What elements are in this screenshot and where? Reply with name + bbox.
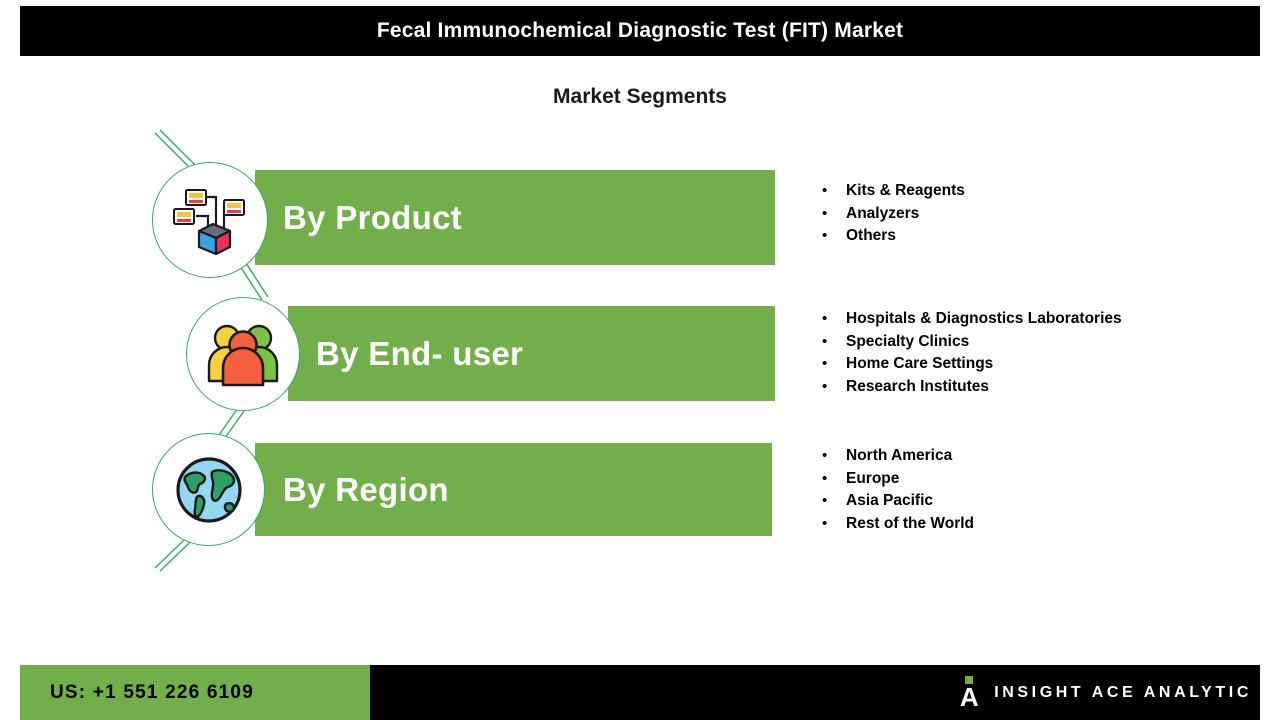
bullet-icon: • bbox=[822, 225, 846, 248]
segments-diagram: By Product bbox=[0, 120, 1280, 590]
list-item-label: Analyzers bbox=[846, 203, 919, 226]
bullet-list-by-region: • North America • Europe • Asia Pacific … bbox=[822, 445, 974, 535]
list-item: • Rest of the World bbox=[822, 513, 974, 536]
list-item: • Specialty Clinics bbox=[822, 331, 1122, 354]
segment-circle-by-region[interactable] bbox=[152, 433, 265, 546]
segment-bar-by-region[interactable]: By Region bbox=[255, 443, 772, 536]
footer-phone-number: US: +1 551 226 6109 bbox=[20, 682, 254, 704]
bullet-icon: • bbox=[822, 308, 846, 331]
people-group-icon bbox=[203, 321, 283, 387]
footer-phone-block[interactable]: US: +1 551 226 6109 bbox=[20, 665, 370, 720]
list-item: • Hospitals & Diagnostics Laboratories bbox=[822, 308, 1122, 331]
segment-label-by-product: By Product bbox=[283, 199, 462, 237]
footer-bar: US: +1 551 226 6109 A INSIGHT ACE ANALYT… bbox=[0, 665, 1280, 720]
bullet-icon: • bbox=[822, 513, 846, 536]
page-title: Fecal Immunochemical Diagnostic Test (FI… bbox=[377, 19, 903, 43]
list-item-label: Home Care Settings bbox=[846, 353, 993, 376]
segment-circle-by-end-user[interactable] bbox=[186, 297, 300, 411]
list-item: • Research Institutes bbox=[822, 376, 1122, 399]
segment-bar-by-end-user[interactable]: By End- user bbox=[288, 306, 775, 401]
title-bar: Fecal Immunochemical Diagnostic Test (FI… bbox=[20, 6, 1260, 56]
bullet-icon: • bbox=[822, 445, 846, 468]
bullet-list-by-end-user: • Hospitals & Diagnostics Laboratories •… bbox=[822, 308, 1122, 398]
infographic-root: Fecal Immunochemical Diagnostic Test (FI… bbox=[0, 0, 1280, 720]
bullet-icon: • bbox=[822, 331, 846, 354]
list-item: • Others bbox=[822, 225, 965, 248]
bullet-icon: • bbox=[822, 353, 846, 376]
list-item-label: Specialty Clinics bbox=[846, 331, 969, 354]
brand-letter: A bbox=[956, 685, 982, 710]
key-players-strip: Key Players: SENTINEL D I A G N O S T I … bbox=[0, 600, 1280, 662]
globe-icon bbox=[174, 455, 244, 525]
segment-label-by-region: By Region bbox=[283, 471, 449, 509]
list-item-label: Rest of the World bbox=[846, 513, 974, 536]
bullet-icon: • bbox=[822, 180, 846, 203]
bullet-list-by-product: • Kits & Reagents • Analyzers • Others bbox=[822, 180, 965, 248]
segment-label-by-end-user: By End- user bbox=[316, 335, 523, 373]
list-item-label: Kits & Reagents bbox=[846, 180, 965, 203]
footer-brand-name: INSIGHT ACE ANALYTIC bbox=[994, 684, 1252, 702]
segment-bar-by-product[interactable]: By Product bbox=[255, 170, 775, 265]
list-item: • Home Care Settings bbox=[822, 353, 1122, 376]
list-item-label: Asia Pacific bbox=[846, 490, 933, 513]
bullet-icon: • bbox=[822, 468, 846, 491]
insight-ace-logo-icon: A bbox=[956, 676, 982, 710]
list-item: • North America bbox=[822, 445, 974, 468]
segment-circle-by-product[interactable] bbox=[152, 162, 268, 278]
bullet-icon: • bbox=[822, 376, 846, 399]
list-item-label: North America bbox=[846, 445, 952, 468]
list-item-label: Others bbox=[846, 225, 896, 248]
section-heading: Market Segments bbox=[0, 85, 1280, 109]
list-item: • Analyzers bbox=[822, 203, 965, 226]
footer-brand[interactable]: A INSIGHT ACE ANALYTIC bbox=[956, 665, 1252, 720]
list-item: • Asia Pacific bbox=[822, 490, 974, 513]
list-item-label: Research Institutes bbox=[846, 376, 989, 399]
list-item: • Europe bbox=[822, 468, 974, 491]
list-item-label: Hospitals & Diagnostics Laboratories bbox=[846, 308, 1122, 331]
list-item-label: Europe bbox=[846, 468, 899, 491]
bullet-icon: • bbox=[822, 203, 846, 226]
product-cube-network-icon bbox=[172, 183, 248, 257]
bullet-icon: • bbox=[822, 490, 846, 513]
list-item: • Kits & Reagents bbox=[822, 180, 965, 203]
